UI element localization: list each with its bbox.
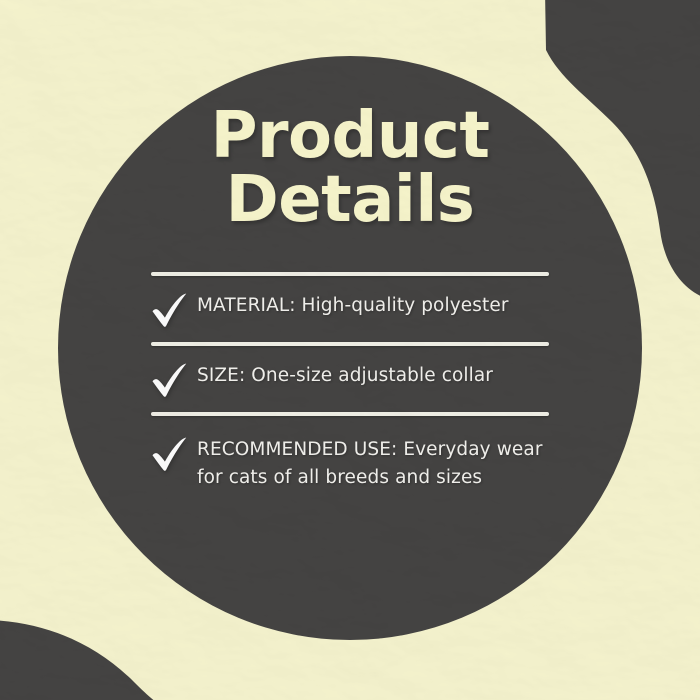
- details-list: MATERIAL: High-quality polyester SIZE: O…: [0, 272, 700, 507]
- list-item-label: RECOMMENDED USE: Everyday wear for cats …: [197, 436, 549, 492]
- check-icon: [151, 292, 197, 327]
- title-line-1: Product: [0, 106, 700, 166]
- check-icon: [151, 362, 197, 397]
- page-title: Product Details: [0, 106, 700, 230]
- poster-content: Product Details MATERIAL: High-quality p…: [0, 0, 700, 700]
- title-line-2: Details: [0, 170, 700, 230]
- check-icon: [151, 436, 197, 471]
- product-details-poster: Product Details MATERIAL: High-quality p…: [0, 0, 700, 700]
- list-item-label: SIZE: One-size adjustable collar: [197, 362, 549, 390]
- list-item: RECOMMENDED USE: Everyday wear for cats …: [151, 416, 549, 507]
- list-item-label: MATERIAL: High-quality polyester: [197, 292, 549, 320]
- list-item: SIZE: One-size adjustable collar: [151, 346, 549, 412]
- list-item: MATERIAL: High-quality polyester: [151, 276, 549, 342]
